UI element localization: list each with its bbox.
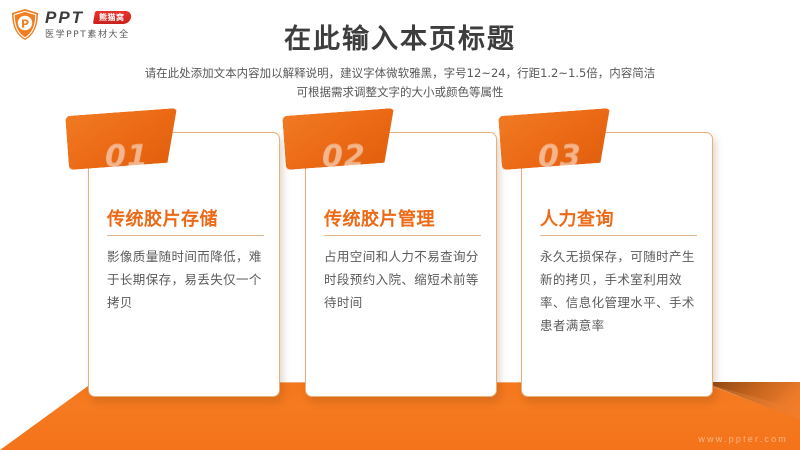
page-title: 在此输入本页标题 (0, 17, 800, 56)
subtitle-line-2: 可根据需求调整文字的大小或颜色等属性 (0, 83, 800, 102)
card-01-body: 影像质量随时间而降低，难于长期保存，易丢失仅一个拷贝 (107, 245, 265, 314)
page-subtitle: 请在此处添加文本内容加以解释说明，建议字体微软雅黑，字号12~24，行距1.2~… (0, 64, 800, 102)
card-03-divider (540, 235, 697, 236)
card-02-heading: 传统胶片管理 (324, 205, 435, 231)
card-03-heading: 人力查询 (540, 205, 614, 231)
card-02-number: 02 (322, 139, 366, 174)
card-01[interactable]: 01 传统胶片存储 影像质量随时间而降低，难于长期保存，易丢失仅一个拷贝 (88, 132, 280, 397)
card-03[interactable]: 03 人力查询 永久无损保存，可随时产生新的拷贝，手术室利用效率、信息化管理水平… (521, 132, 713, 397)
watermark-text: www.ppter.com (698, 434, 788, 444)
card-01-heading: 传统胶片存储 (107, 205, 218, 231)
card-02-divider (324, 235, 481, 236)
card-03-body: 永久无损保存，可随时产生新的拷贝，手术室利用效率、信息化管理水平、手术患者满意率 (540, 245, 698, 337)
card-02-body: 占用空间和人力不易查询分时段预约入院、缩短术前等待时间 (324, 245, 482, 314)
slide-canvas: www.ppter.com P PPT 熊猫窝 医学PPT素材大全 在此输入本页… (0, 0, 800, 450)
card-03-number: 03 (538, 139, 582, 174)
card-02[interactable]: 02 传统胶片管理 占用空间和人力不易查询分时段预约入院、缩短术前等待时间 (305, 132, 497, 397)
card-01-number: 01 (105, 139, 149, 174)
subtitle-line-1: 请在此处添加文本内容加以解释说明，建议字体微软雅黑，字号12~24，行距1.2~… (0, 64, 800, 83)
card-01-divider (107, 235, 264, 236)
